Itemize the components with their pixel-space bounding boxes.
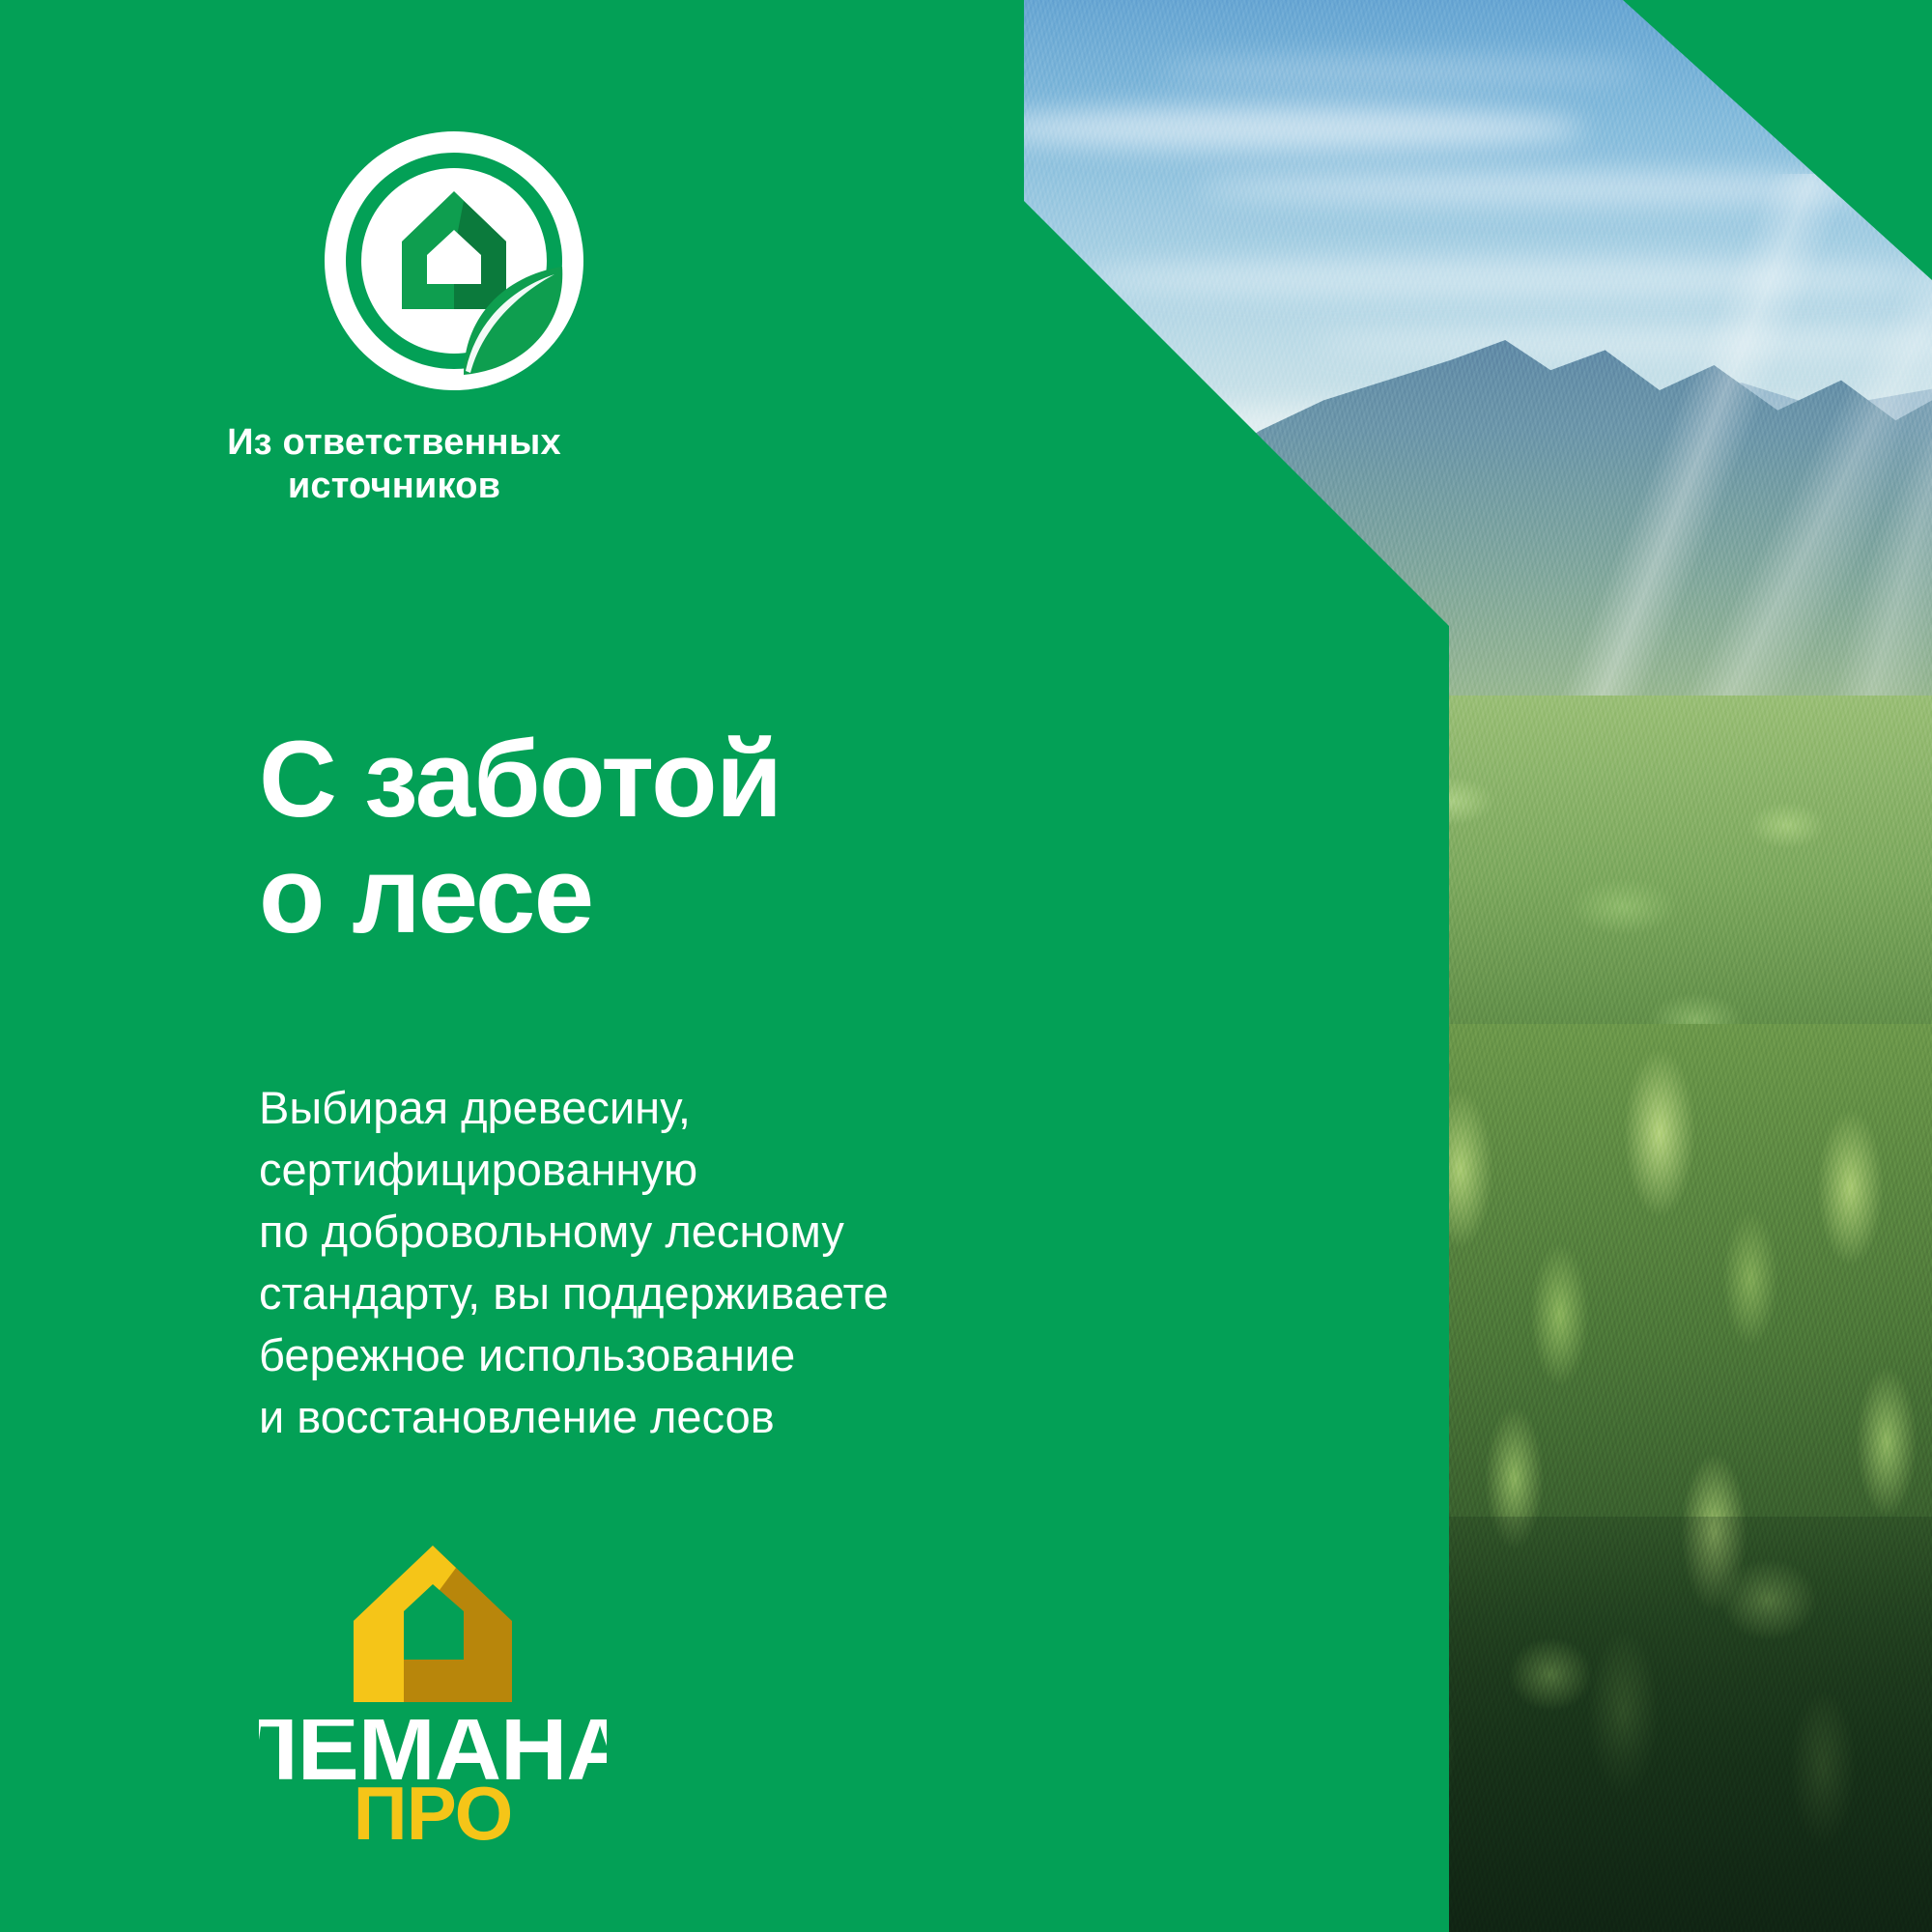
poster-canvas: Из ответственных источников С заботой о … bbox=[0, 0, 1932, 1932]
cloud-band bbox=[1082, 259, 1932, 298]
house-leaf-circle-icon bbox=[319, 126, 589, 396]
lemana-house-icon bbox=[336, 1542, 529, 1706]
brand-suffix-text: ПРО bbox=[354, 1771, 513, 1843]
page-title: С заботой о лесе bbox=[259, 722, 781, 953]
responsible-sources-badge: Из ответственных источников bbox=[261, 126, 647, 508]
lemana-pro-logo: ЛЕМАНА ПРО bbox=[259, 1542, 607, 1843]
badge-label: Из ответственных источников bbox=[191, 421, 597, 508]
cloud-band bbox=[1159, 58, 1642, 85]
body-paragraph: Выбирая древесину, сертифицированную по … bbox=[259, 1077, 993, 1447]
content-column: Из ответственных источников С заботой о … bbox=[0, 0, 1024, 1932]
lemana-pro-wordmark: ЛЕМАНА ПРО bbox=[259, 1719, 607, 1843]
